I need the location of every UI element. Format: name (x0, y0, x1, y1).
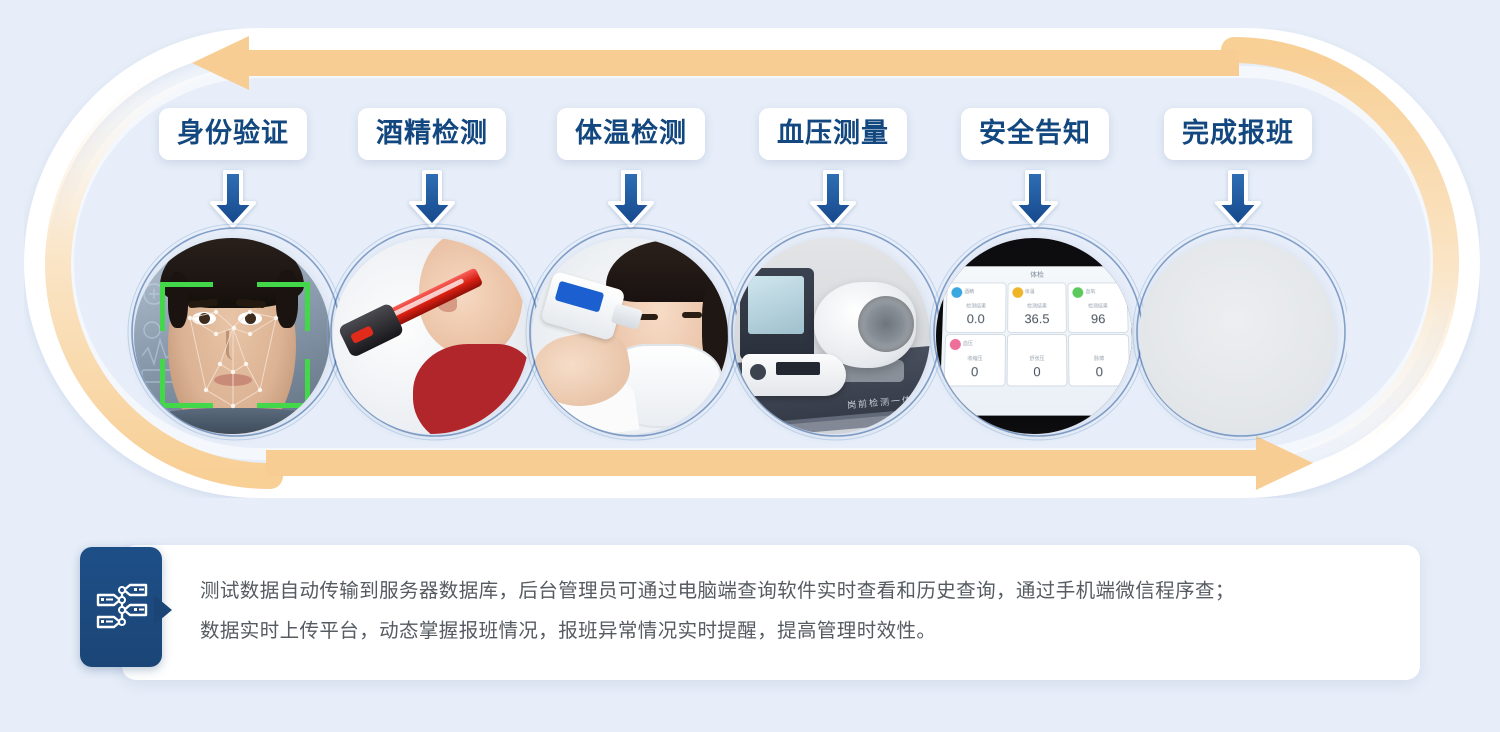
dashboard-cell: 酒精 检测结果 0.0 (946, 283, 1005, 332)
step-list: 身份验证 (0, 0, 1500, 500)
cell-sub: 检测结果 (1008, 303, 1066, 310)
step-label-temperature: 体温检测 (557, 108, 705, 160)
cell-value: 0 (1070, 364, 1130, 379)
media-document-pencil (1139, 238, 1335, 434)
dashboard-cell: 血压 收缩压 0 (945, 335, 1005, 385)
media-blood-pressure-machine-photo: 岗前检测一体机 (734, 238, 930, 434)
dashboard-title: 体检 (944, 266, 1130, 279)
cell-dot-label: 酒精 (964, 288, 974, 295)
cell-sub: 收缩压 (945, 355, 1004, 362)
cell-dot-label: 血压 (963, 340, 973, 347)
summary-panel: 测试数据自动传输到服务器数据库，后台管理员可通过电脑端查询软件实时查看和历史查询… (80, 545, 1420, 680)
summary-text: 测试数据自动传输到服务器数据库，后台管理员可通过电脑端查询软件实时查看和历史查询… (200, 571, 1360, 651)
dashboard-cell: 脉搏 0 (1069, 335, 1129, 385)
summary-badge (80, 547, 162, 667)
cell-sub: 检测结果 (1069, 303, 1127, 310)
step-safety-notice[interactable]: 安全告知 体检 (930, 108, 1140, 448)
step-label-alcohol: 酒精检测 (358, 108, 506, 160)
step-alcohol[interactable]: 酒精检测 (327, 108, 537, 448)
cell-dot-label: 血氧 (1085, 288, 1095, 295)
dashboard-grid: 酒精 检测结果 0.0 体温 检测结果 36.5 (940, 280, 1132, 386)
step-label-complete: 完成报班 (1164, 108, 1312, 160)
media-tablet-dashboard-photo: 体检 酒精 检测结果 0.0 体温 (936, 238, 1132, 434)
dashboard-cell: 体温 检测结果 36.5 (1008, 283, 1067, 332)
cell-sub: 舒张压 (1007, 355, 1066, 362)
step-label-blood-pressure: 血压测量 (759, 108, 907, 160)
media-face-recognition-photo (134, 238, 330, 434)
cell-value: 96 (1069, 311, 1128, 326)
dashboard-cell: 舒张压 0 (1007, 335, 1067, 385)
step-label-identity: 身份验证 (159, 108, 307, 160)
media-forehead-thermometer-photo (532, 238, 728, 434)
step-complete[interactable]: 完成报班 (1133, 108, 1343, 448)
step-label-safety-notice: 安全告知 (961, 108, 1109, 160)
infographic-canvas: 身份验证 (0, 0, 1500, 732)
media-breathalyzer-photo (333, 238, 529, 434)
step-identity[interactable]: 身份验证 (128, 108, 338, 448)
cell-value: 36.5 (1008, 311, 1066, 326)
cell-value: 0.0 (946, 311, 1005, 326)
cell-value: 0 (945, 364, 1005, 379)
summary-line-2: 数据实时上传平台，动态掌握报班情况，报班异常情况实时提醒，提高管理时效性。 (200, 611, 1360, 651)
cell-sub: 脉搏 (1070, 355, 1129, 362)
dashboard-screen: 体检 酒精 检测结果 0.0 体温 (939, 266, 1132, 415)
step-blood-pressure[interactable]: 血压测量 (728, 108, 938, 448)
summary-line-1: 测试数据自动传输到服务器数据库，后台管理员可通过电脑端查询软件实时查看和历史查询… (200, 571, 1360, 611)
cell-dot-label: 体温 (1025, 288, 1035, 295)
dashboard-cell: 血氧 检测结果 96 (1069, 283, 1128, 332)
network-nodes-icon (96, 577, 148, 637)
cell-value: 0 (1007, 364, 1067, 379)
cell-sub: 检测结果 (947, 303, 1005, 310)
step-temperature[interactable]: 体温检测 (526, 108, 736, 448)
